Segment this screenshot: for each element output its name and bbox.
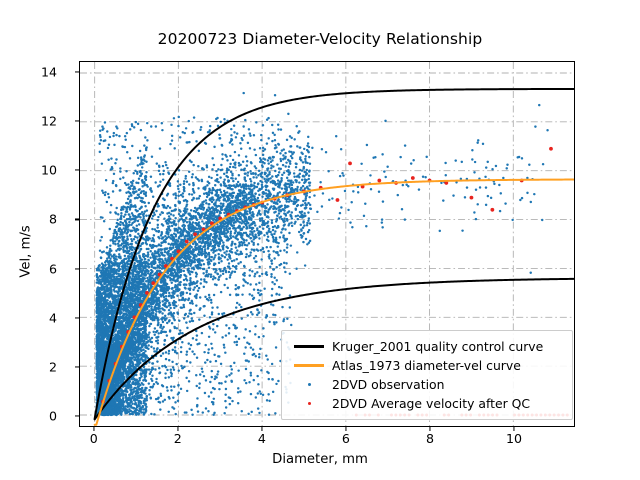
legend-dot-swatch [290, 383, 328, 386]
x-tick-label: 6 [326, 431, 366, 446]
legend-line-swatch [290, 364, 328, 366]
legend-line-swatch [290, 345, 328, 347]
x-tick-mark [514, 427, 515, 431]
x-tick-mark [345, 427, 346, 431]
legend-item[interactable]: 2DVD observation [290, 375, 564, 394]
legend-label: Atlas_1973 diameter-vel curve [328, 358, 521, 373]
x-tick-mark [261, 427, 262, 431]
x-axis-label: Diameter, mm [0, 452, 640, 467]
x-tick-label: 0 [74, 431, 114, 446]
x-tick-label: 8 [410, 431, 450, 446]
y-tick-label: 14 [17, 65, 57, 80]
page-title: 20200723 Diameter-Velocity Relationship [0, 30, 640, 48]
legend-dot-swatch [290, 402, 328, 405]
legend[interactable]: Kruger_2001 quality control curveAtlas_1… [281, 330, 573, 420]
matplotlib-figure: 20200723 Diameter-Velocity Relationship … [0, 0, 640, 480]
legend-label: 2DVD Average velocity after QC [328, 396, 530, 411]
y-tick-label: 6 [17, 261, 57, 276]
x-tick-label: 4 [242, 431, 282, 446]
legend-item[interactable]: Kruger_2001 quality control curve [290, 337, 564, 356]
y-tick-label: 12 [17, 114, 57, 129]
legend-label: Kruger_2001 quality control curve [328, 339, 543, 354]
y-tick-label: 2 [17, 359, 57, 374]
x-tick-label: 10 [494, 431, 534, 446]
x-tick-label: 2 [158, 431, 198, 446]
y-tick-label: 8 [17, 212, 57, 227]
legend-item[interactable]: Atlas_1973 diameter-vel curve [290, 356, 564, 375]
y-tick-label: 4 [17, 310, 57, 325]
x-tick-mark [93, 427, 94, 431]
y-tick-label: 10 [17, 163, 57, 178]
x-tick-mark [177, 427, 178, 431]
legend-label: 2DVD observation [328, 377, 444, 392]
x-tick-mark [429, 427, 430, 431]
legend-item[interactable]: 2DVD Average velocity after QC [290, 394, 564, 413]
y-tick-label: 0 [17, 408, 57, 423]
